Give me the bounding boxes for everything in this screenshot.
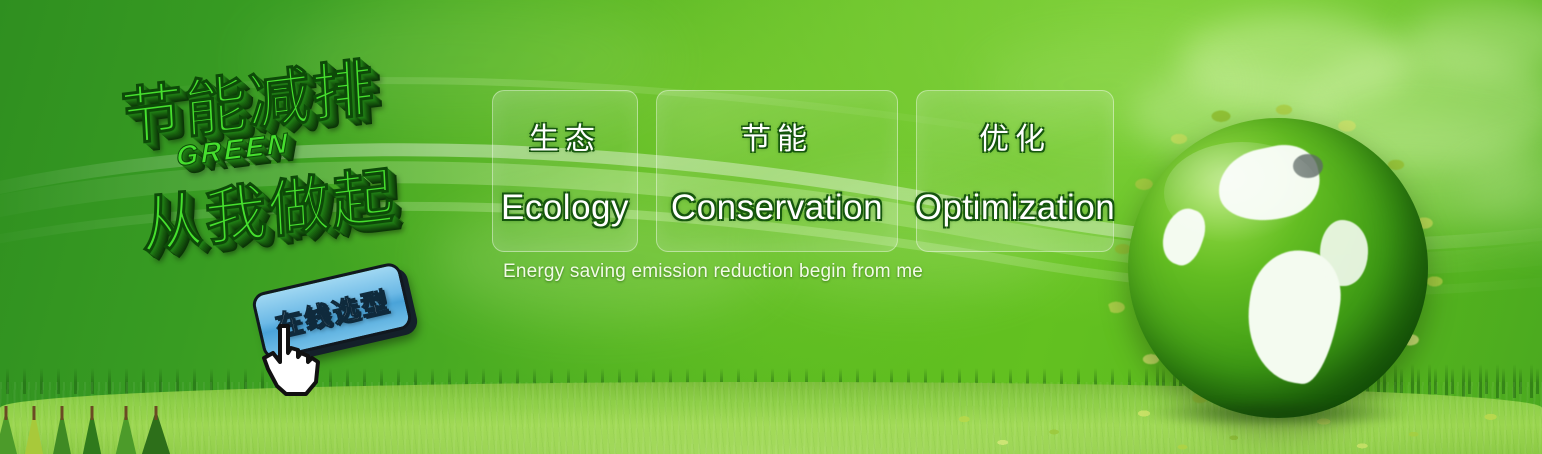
- feature-card-en-label: Conservation: [671, 188, 883, 228]
- hand-pointer-icon: [246, 320, 332, 402]
- feature-card-conservation[interactable]: 节能 Conservation: [656, 90, 898, 252]
- eco-hero-banner: 节能减排 GREEN 从我做起 在线选型 生态 Ecology 节能 Conse…: [0, 0, 1542, 454]
- feature-cards: 生态 Ecology 节能 Conservation 优化 Optimizati…: [492, 90, 1114, 252]
- feature-card-en-label: Ecology: [501, 188, 629, 228]
- globe-shadow: [1146, 400, 1410, 428]
- feature-card-en-label: Optimization: [915, 188, 1116, 228]
- feature-card-cn-label: 优化: [979, 114, 1051, 158]
- feature-card-cn-label: 生态: [529, 114, 601, 158]
- feature-card-cn-label: 节能: [741, 114, 813, 158]
- globe-sphere: [1128, 118, 1428, 418]
- feature-card-optimization[interactable]: 优化 Optimization: [916, 90, 1114, 252]
- pine-trees-icon: [0, 300, 200, 410]
- feature-card-ecology[interactable]: 生态 Ecology: [492, 90, 638, 252]
- headline-group: 节能减排 GREEN 从我做起: [104, 42, 504, 272]
- banner-tagline: Energy saving emission reduction begin f…: [503, 261, 923, 283]
- leafy-globe-icon: [1128, 118, 1428, 418]
